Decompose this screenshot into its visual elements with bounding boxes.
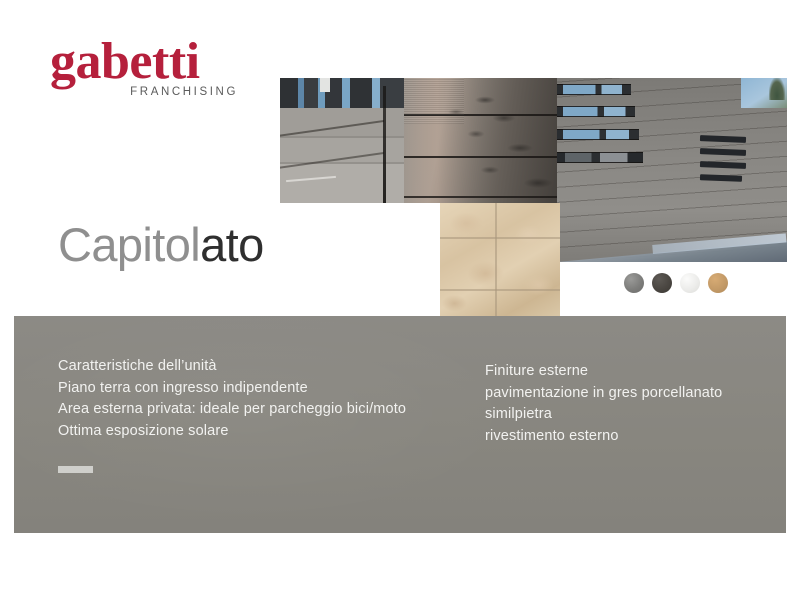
band-divider [58,466,93,473]
swatch-white-icon[interactable] [680,273,700,293]
page-title: Capitolato [58,219,264,271]
photo-facade-corner [280,78,561,203]
finish-line: Finiture esterne [485,361,722,383]
page-title-prefix: Capitol [58,218,200,271]
swatch-dark-icon[interactable] [652,273,672,293]
facade-mesh-texture [404,78,464,124]
clad-wall-vent-slot [700,161,746,169]
facade-corner-edge [383,86,386,203]
clad-wall-vent-slot [700,135,746,143]
feature-line: Area esterna privata: ideale per parcheg… [58,399,406,421]
logo-wordmark: gabetti [50,36,240,88]
clad-wall-tree [769,78,785,100]
features-column: Caratteristiche dell’unità Piano terra c… [58,356,406,442]
feature-line: Caratteristiche dell’unità [58,356,406,378]
clad-wall-window [557,84,631,95]
clad-wall-vent-group [700,136,748,186]
finish-line: pavimentazione in gres porcellanato [485,383,722,405]
slide-canvas: gabetti FRANCHISING Capi [0,0,800,600]
finish-line: rivestimento esterno [485,426,722,448]
feature-line: Piano terra con ingresso indipendente [58,378,406,400]
clad-wall-window-group [557,84,645,168]
color-swatch-row [624,273,728,293]
page-title-accent: ato [200,218,264,271]
clad-wall-vent-slot [700,148,746,156]
photo-stone-tiles [440,203,560,317]
swatch-gray-icon[interactable] [624,273,644,293]
facade-white-panel [320,78,330,92]
feature-line: Ottima esposizione solare [58,421,406,443]
finish-line: similpietra [485,404,722,426]
clad-wall-window [557,106,635,117]
swatch-tan-icon[interactable] [708,273,728,293]
clad-wall-window [557,152,643,163]
finishes-column: Finiture esterne pavimentazione in gres … [485,361,722,447]
brand-logo: gabetti FRANCHISING [50,36,240,98]
clad-wall-window [557,129,639,140]
clad-wall-vent-slot [700,174,742,182]
content-band: Caratteristiche dell’unità Piano terra c… [14,316,786,533]
photo-clad-wall [557,78,787,262]
